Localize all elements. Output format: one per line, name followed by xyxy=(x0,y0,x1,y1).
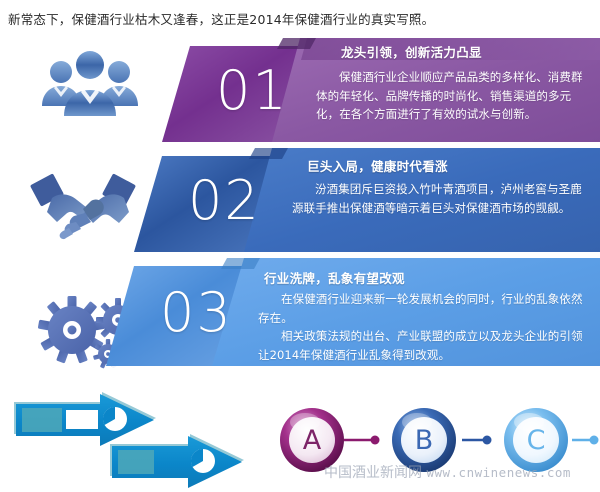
section-row-02: 02 巨头入局，健康时代看涨 汾酒集团斥巨资投入竹叶青酒项目，泸州老窖与圣鹿源联… xyxy=(0,148,600,260)
section-paragraph: 相关政策法规的出台、产业联盟的成立以及龙头企业的引领让2014年保健酒行业乱象得… xyxy=(258,327,588,364)
section-title-02: 巨头入局，健康时代看涨 xyxy=(307,156,448,175)
section-paragraph: 保健酒行业企业顺应产品品类的多样化、消费群体的年轻化、品牌传播的时尚化、销售渠道… xyxy=(316,68,588,124)
section-title-03: 行业洗牌，乱象有望改观 xyxy=(264,268,405,287)
section-row-01: 01 龙头引领，创新活力凸显 保健酒行业企业顺应产品品类的多样化、消费群体的年轻… xyxy=(0,38,600,150)
watermark-site: 中国酒业新闻网 xyxy=(324,465,422,481)
section-paragraph: 汾酒集团斥巨资投入竹叶青酒项目，泸州老窖与圣鹿源联手推出保健酒等暗示着巨头对保健… xyxy=(292,180,588,217)
arrows-graphic xyxy=(14,392,264,488)
section-body-02: 汾酒集团斥巨资投入竹叶青酒项目，泸州老窖与圣鹿源联手推出保健酒等暗示着巨头对保健… xyxy=(292,180,588,217)
section-body-03: 在保健酒行业迎来新一轮发展机会的同时，行业的乱象依然存在。 相关政策法规的出台、… xyxy=(258,290,588,365)
section-row-03: 03 行业洗牌，乱象有望改观 在保健酒行业迎来新一轮发展机会的同时，行业的乱象依… xyxy=(0,258,600,374)
sphere-letter-c: C xyxy=(506,427,566,454)
sphere-letter-a: A xyxy=(282,427,342,454)
watermark: 中国酒业新闻网 www.cnwinenews.com xyxy=(324,462,571,482)
section-title-01: 龙头引领，创新活力凸显 xyxy=(341,42,482,61)
section-body-01: 保健酒行业企业顺应产品品类的多样化、消费群体的年轻化、品牌传播的时尚化、销售渠道… xyxy=(316,68,588,124)
sphere-letter-b: B xyxy=(394,427,454,454)
infographic-stage: 01 龙头引领，创新活力凸显 保健酒行业企业顺应产品品类的多样化、消费群体的年轻… xyxy=(0,38,600,383)
intro-paragraph: 新常态下，保健酒行业枯木又逢春，这正是2014年保健酒行业的真实写照。 xyxy=(8,9,592,28)
section-paragraph: 在保健酒行业迎来新一轮发展机会的同时，行业的乱象依然存在。 xyxy=(258,290,588,327)
watermark-url: www.cnwinenews.com xyxy=(426,465,570,480)
